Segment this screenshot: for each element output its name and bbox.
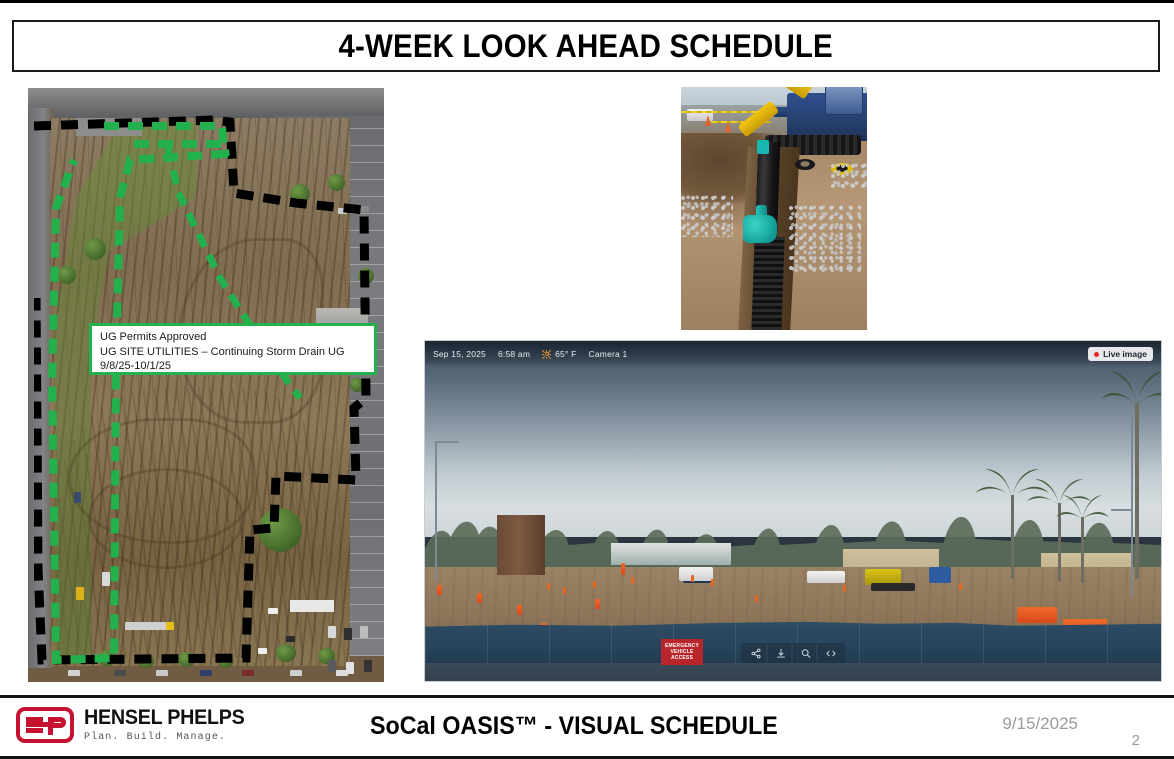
aerial-tree (328, 174, 345, 191)
live-image-label: Live image (1103, 349, 1147, 359)
webcam-weather: 65° F (542, 349, 576, 359)
company-logo: HENSEL PHELPS Plan. Build. Manage. (16, 706, 255, 743)
live-image-badge[interactable]: Live image (1088, 347, 1153, 361)
aerial-street-car (156, 670, 168, 676)
aerial-tree (218, 654, 233, 668)
worker (593, 581, 596, 588)
light-pole-arm (435, 441, 459, 443)
caution-tape (681, 111, 761, 113)
aerial-parked-car (328, 660, 336, 672)
aerial-street-car (200, 670, 212, 676)
webcam-camera-label: Camera 1 (589, 349, 628, 359)
zoom-icon[interactable] (795, 644, 818, 662)
worker (547, 583, 550, 590)
aerial-vehicle (125, 622, 169, 630)
callout-line-1: UG Permits Approved (100, 330, 368, 345)
webcam-foreground-road (425, 663, 1161, 681)
traffic-cone (437, 585, 442, 595)
embed-code-icon[interactable] (820, 644, 842, 662)
corrugated-pipe-section (751, 237, 784, 330)
sun-icon (542, 350, 551, 359)
site-lift (929, 567, 951, 583)
webcam-toolbar[interactable] (741, 643, 846, 663)
gravel-bedding (831, 163, 867, 189)
slide-footer: HENSEL PHELPS Plan. Build. Manage. SoCal… (0, 695, 1174, 759)
site-aerial-photo: UG Permits Approved UG SITE UTILITIES – … (28, 88, 384, 682)
aerial-vehicle (258, 648, 267, 654)
worker (691, 575, 694, 582)
aerial-parked-car (328, 626, 336, 638)
company-logo-text: HENSEL PHELPS Plan. Build. Manage. (84, 706, 255, 743)
gravel-bedding (681, 195, 733, 237)
webcam-temperature: 65° F (555, 349, 576, 359)
slide-title-box: 4-WEEK LOOK AHEAD SCHEDULE (12, 20, 1160, 72)
aerial-tree (358, 268, 374, 284)
worker (563, 587, 566, 594)
aerial-vehicle (102, 572, 110, 586)
aerial-vehicle (76, 587, 84, 600)
aerial-parked-car (338, 208, 347, 214)
aerial-tree (350, 378, 364, 392)
site-pickup-truck (807, 571, 845, 583)
aerial-tree (58, 266, 76, 284)
site-webcam-panel[interactable]: EMERGENCY VEHICLE ACCESS Sep 15, 2025 6:… (424, 340, 1162, 682)
webcam-date: Sep 15, 2025 (433, 349, 486, 359)
webcam-brown-structure (497, 515, 545, 575)
aerial-vehicle (74, 492, 81, 503)
aerial-street-car (290, 670, 302, 676)
aerial-tree (98, 650, 116, 666)
company-tagline: Plan. Build. Manage. (84, 732, 255, 743)
orange-barricade (1017, 607, 1057, 623)
aerial-parked-car (360, 626, 368, 638)
aerial-tree (178, 652, 195, 667)
worker (631, 577, 634, 584)
aerial-vehicle (286, 636, 295, 642)
traffic-cone (725, 121, 731, 132)
site-white-van (679, 567, 713, 581)
webcam-meta: Sep 15, 2025 6:58 am 65° F Camera 1 (433, 349, 627, 359)
palm-tree-icon (1055, 491, 1111, 583)
worker (755, 595, 758, 602)
site-excavator-track (871, 583, 915, 591)
schedule-callout: UG Permits Approved UG SITE UTILITIES – … (89, 323, 377, 375)
worker (959, 583, 962, 590)
download-icon[interactable] (770, 644, 793, 662)
excavator-cab (825, 87, 863, 115)
aerial-street-car (68, 670, 80, 676)
share-icon[interactable] (745, 644, 768, 662)
company-name: HENSEL PHELPS (84, 706, 245, 730)
callout-line-3: 9/8/25-10/1/25 (100, 359, 368, 374)
traffic-cone (595, 599, 600, 609)
teal-wye-fitting (743, 215, 777, 243)
aerial-building (76, 118, 142, 136)
worker (711, 579, 714, 586)
aerial-parked-car (360, 206, 369, 212)
hensel-phelps-hp-monogram-icon (16, 707, 74, 743)
aerial-trailer (290, 600, 334, 612)
webcam-background-building-c (611, 543, 731, 565)
aerial-street-car (336, 670, 348, 676)
aerial-tree (258, 508, 302, 552)
traffic-cone (517, 605, 522, 615)
traffic-cone (477, 593, 482, 603)
light-pole (1131, 417, 1133, 597)
aerial-rut (88, 468, 244, 569)
page-number: 2 (1132, 732, 1140, 749)
safety-flag (621, 563, 625, 575)
traffic-cone (705, 115, 711, 126)
aerial-tree (138, 654, 154, 668)
aerial-tree (290, 184, 310, 204)
page-title: 4-WEEK LOOK AHEAD SCHEDULE (339, 28, 833, 65)
footer-date: 9/15/2025 (1002, 714, 1078, 734)
worker (843, 585, 846, 592)
black-pipe-coupler (795, 159, 815, 170)
callout-line-2: UG SITE UTILITIES – Continuing Storm Dra… (100, 345, 368, 360)
webcam-info-bar: Sep 15, 2025 6:58 am 65° F Camera 1 Live… (425, 341, 1161, 367)
aerial-tree (84, 238, 106, 260)
light-pole (435, 441, 437, 581)
slide-root: 4-WEEK LOOK AHEAD SCHEDULE (0, 0, 1174, 756)
aerial-parked-car (364, 660, 372, 672)
aerial-parked-car (344, 628, 352, 640)
sign-line-3: ACCESS (671, 655, 693, 661)
aerial-vehicle (268, 608, 278, 614)
teal-fitting-upper (757, 140, 769, 154)
emergency-vehicle-access-sign: EMERGENCY VEHICLE ACCESS (661, 639, 703, 665)
storm-drain-trench-photo (681, 87, 867, 330)
aerial-tree (276, 644, 296, 662)
live-indicator-dot (1094, 352, 1099, 357)
aerial-street-car (114, 670, 126, 676)
aerial-vehicle (166, 622, 174, 630)
footer-project-title: SoCal OASIS™ - VISUAL SCHEDULE (370, 712, 778, 741)
light-pole-arm (1111, 509, 1133, 511)
webcam-time: 6:58 am (498, 349, 530, 359)
aerial-street-car (242, 670, 254, 676)
gravel-bedding (789, 205, 861, 275)
